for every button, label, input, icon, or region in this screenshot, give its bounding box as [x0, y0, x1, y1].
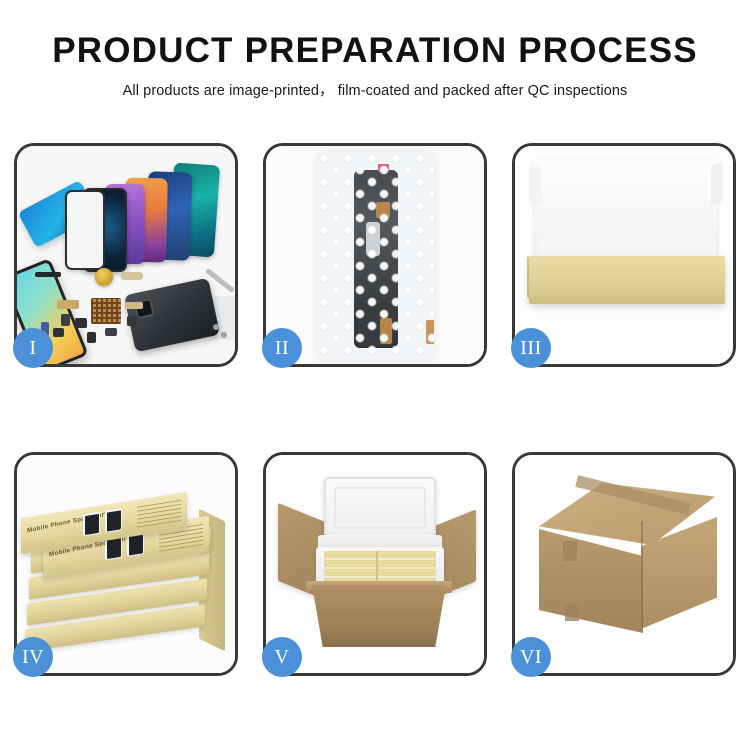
- component-part: [141, 322, 148, 329]
- coil-component: [95, 268, 113, 286]
- phone-chassis: [124, 278, 220, 353]
- step-panel-5: V: [263, 452, 487, 676]
- screw-part: [221, 332, 227, 338]
- component-part: [121, 272, 143, 280]
- foam-cooler-lid: [324, 477, 436, 541]
- screw-part: [213, 324, 219, 330]
- step-image-3: [515, 146, 733, 364]
- yellow-box-base: [529, 256, 725, 304]
- step-numeral: VI: [520, 647, 542, 667]
- step-badge-5: V: [262, 637, 302, 677]
- step-numeral: IV: [22, 647, 44, 667]
- carton-packing-illustration: [266, 455, 484, 673]
- bubble-wrap-illustration: [266, 146, 484, 364]
- component-part: [127, 316, 137, 326]
- step-image-6: [515, 455, 733, 673]
- step-panel-1: I: [14, 143, 238, 367]
- step-numeral: I: [29, 338, 36, 358]
- sealed-carton-illustration: [515, 455, 733, 673]
- component-part: [105, 328, 117, 336]
- step-panel-4: Mobile Phone Spare Parts Mobile Phone Sp…: [14, 452, 238, 676]
- component-part: [35, 272, 61, 277]
- box-stack: Mobile Phone Spare Parts Mobile Phone Sp…: [17, 467, 235, 667]
- steps-grid: I II: [0, 0, 750, 750]
- step-panel-3: III: [512, 143, 736, 367]
- component-part: [75, 318, 87, 328]
- step-image-2: [266, 146, 484, 364]
- box-thumbnail: [105, 508, 122, 533]
- component-part: [57, 300, 79, 309]
- step-badge-6: VI: [511, 637, 551, 677]
- phone-screen-white: [65, 190, 105, 270]
- step-badge-3: III: [511, 328, 551, 368]
- carton-body: [312, 585, 446, 647]
- box-thumbnail: [83, 512, 100, 537]
- carton-edge-seam: [641, 521, 643, 627]
- stacked-boxes-illustration: Mobile Phone Spare Parts Mobile Phone Sp…: [17, 455, 235, 673]
- step-badge-1: I: [13, 328, 53, 368]
- carton-front-face: [539, 529, 643, 633]
- step-image-1: [17, 146, 235, 364]
- step-image-5: [266, 455, 484, 673]
- packing-tape-front: [565, 603, 579, 621]
- component-part: [87, 332, 96, 343]
- component-part: [125, 302, 143, 309]
- step-numeral: III: [520, 338, 541, 358]
- product-preparation-infographic: PRODUCT PREPARATION PROCESS All products…: [0, 0, 750, 750]
- step-badge-4: IV: [13, 637, 53, 677]
- step-numeral: V: [275, 647, 290, 667]
- phones-and-parts-illustration: [17, 146, 235, 364]
- bubble-texture: [318, 152, 434, 360]
- box-spec-lines: [137, 500, 181, 529]
- step-badge-2: II: [262, 328, 302, 368]
- chip-array-component: [91, 298, 121, 324]
- step-image-4: Mobile Phone Spare Parts Mobile Phone Sp…: [17, 455, 235, 673]
- step-panel-6: VI: [512, 452, 736, 676]
- component-part: [53, 328, 64, 337]
- component-part: [61, 314, 70, 326]
- step-panel-2: II: [263, 143, 487, 367]
- foam-box-illustration: [515, 146, 733, 364]
- step-numeral: II: [275, 338, 289, 358]
- bubble-wrap-bag: [318, 152, 434, 360]
- packing-tape-front: [563, 541, 577, 561]
